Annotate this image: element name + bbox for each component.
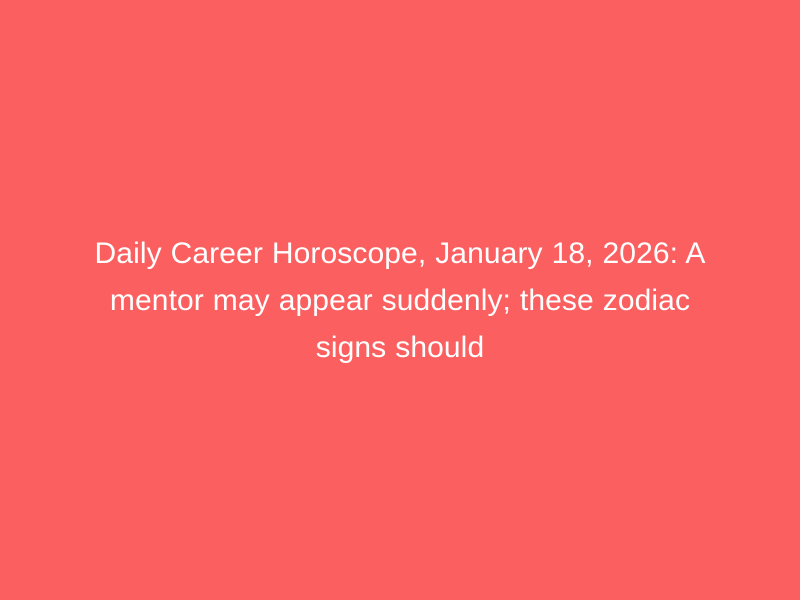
headline-block: Daily Career Horoscope, January 18, 2026… [75, 230, 725, 371]
page-title: Daily Career Horoscope, January 18, 2026… [75, 230, 725, 371]
article-hero-card: Daily Career Horoscope, January 18, 2026… [0, 0, 800, 600]
